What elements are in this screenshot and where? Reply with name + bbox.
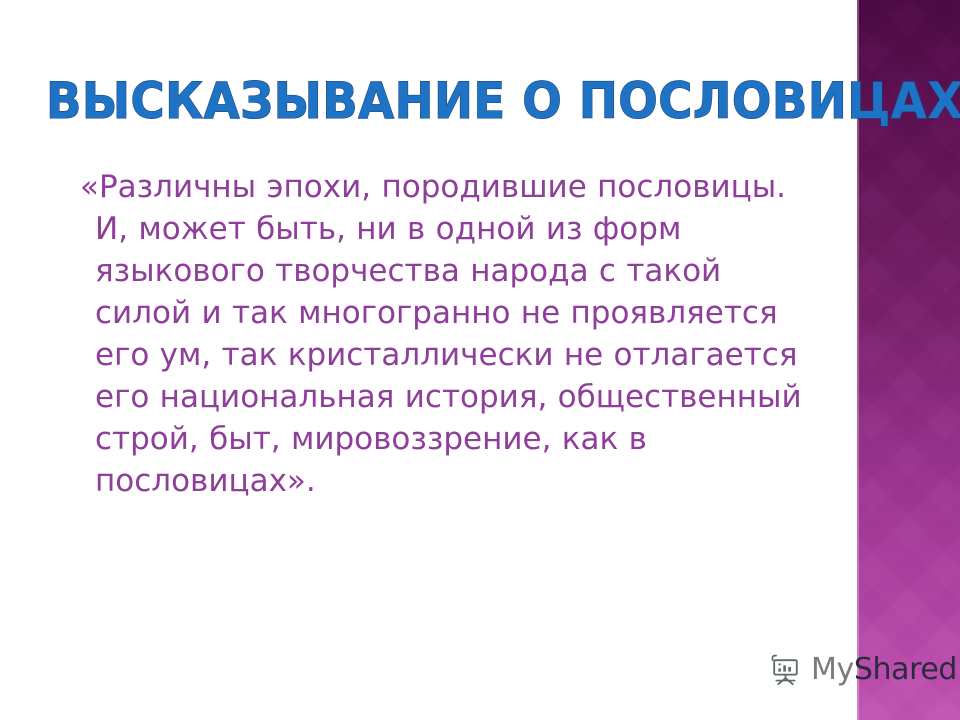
watermark-text-shared: Shared [854,652,957,687]
mysharedwatermark[interactable]: MyShared [768,654,957,686]
presentation-slide: Высказывание о пословицах «Различны эпох… [0,0,960,720]
quote-block: «Различны эпохи, породившие пословицы. И… [80,166,810,502]
page-title: Высказывание о пословицах [46,72,790,130]
watermark-text-my: My [811,652,854,687]
presentation-board-icon [768,654,802,686]
watermark-text: MyShared [811,655,957,685]
quote-body-text: «Различны эпохи, породившие пословицы. И… [80,166,810,502]
